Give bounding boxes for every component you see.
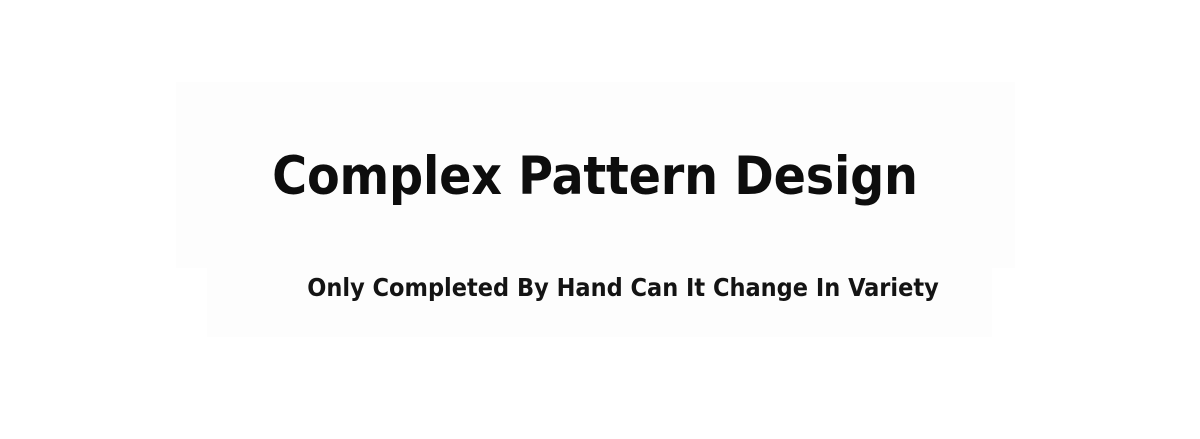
page-subtitle: Only Completed By Hand Can It Change In … <box>0 271 1200 305</box>
page-title: Complex Pattern Design <box>0 144 1190 210</box>
banner-canvas: Complex Pattern Design Only Completed By… <box>0 0 1200 439</box>
banner-text-stack: Complex Pattern Design Only Completed By… <box>0 0 1200 439</box>
